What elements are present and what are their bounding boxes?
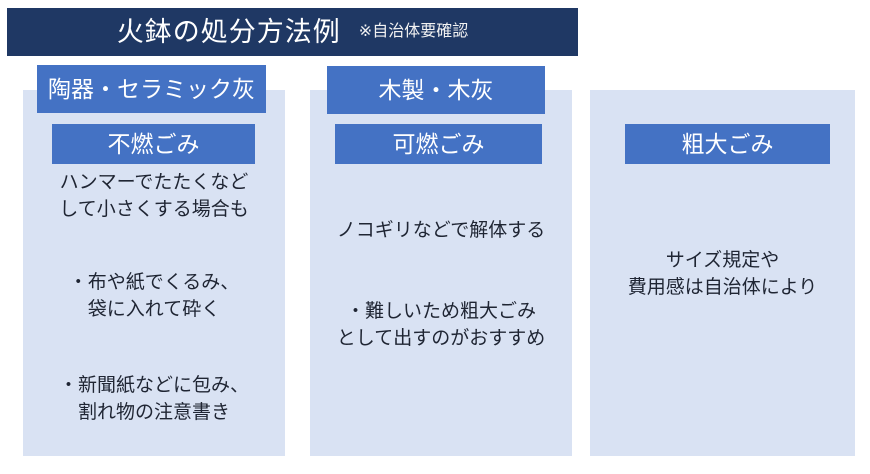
- category-badge-wooden: 木製・木灰: [327, 66, 545, 114]
- waste-type-badge-bulky: 粗大ごみ: [625, 124, 830, 164]
- category-badge-ceramic: 陶器・セラミック灰: [37, 65, 266, 113]
- title-note: ※自治体要確認: [359, 24, 468, 40]
- list-item: ・難しいため粗大ごみ として出すのがおすすめ: [310, 299, 572, 353]
- title-bar: 火鉢の処分方法例 ※自治体要確認: [7, 8, 578, 56]
- page-title: 火鉢の処分方法例: [117, 19, 341, 46]
- intro-text-wooden: ノコギリなどで解体する: [310, 218, 572, 245]
- waste-type-badge-combustible: 可燃ごみ: [335, 124, 542, 164]
- intro-text-bulky: サイズ規定や 費用感は自治体により: [590, 248, 855, 302]
- bullet-list-ceramic: ・布や紙でくるみ、 袋に入れて砕く ・新聞紙などに包み、 割れ物の注意書き: [23, 243, 285, 454]
- infographic-board: 火鉢の処分方法例 ※自治体要確認 陶器・セラミック灰 不燃ごみ ハンマーでたたく…: [0, 0, 870, 474]
- intro-text-ceramic: ハンマーでたたくなど して小さくする場合も: [23, 170, 285, 224]
- bullet-list-wooden: ・難しいため粗大ごみ として出すのがおすすめ: [310, 272, 572, 380]
- list-item: ・新聞紙などに包み、 割れ物の注意書き: [23, 373, 285, 427]
- waste-type-badge-noncombustible: 不燃ごみ: [52, 124, 255, 164]
- list-item: ・布や紙でくるみ、 袋に入れて砕く: [23, 270, 285, 324]
